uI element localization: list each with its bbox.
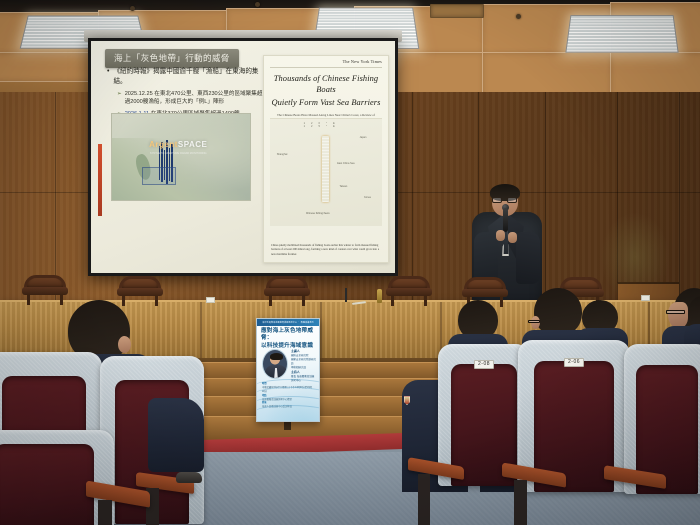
bullet-dot-icon: • bbox=[107, 67, 109, 86]
news-masthead: The New York Times bbox=[264, 56, 388, 64]
glasses-icon bbox=[528, 320, 540, 323]
armrest-post bbox=[514, 480, 527, 525]
speaker-hand-left bbox=[496, 230, 505, 241]
speaker-hand-right bbox=[508, 232, 517, 243]
slide-bullet: • 《紐約時報》揭露中國逾千艘「漁船」在東海的集結。 bbox=[107, 67, 267, 86]
map-watermark: ArgentSPACE bbox=[149, 140, 207, 149]
conference-hall-scene: 海上「灰色地帶」行動的威脅 • 《紐約時報》揭露中國逾千艘「漁船」在東海的集結。… bbox=[0, 0, 700, 525]
news-map-label: East China Sea bbox=[337, 162, 354, 165]
slide-sub-bullet-body: 2025.12.25 在東北470公里、東西230公里的區域聚集超過2000艘漁… bbox=[125, 90, 267, 107]
dais-chair bbox=[264, 276, 310, 306]
chair-leg bbox=[391, 295, 394, 306]
armrest-post bbox=[98, 500, 112, 525]
slide-bullet-text: 《紐約時報》揭露中國逾千艘「漁船」在東海的集結。 bbox=[113, 67, 267, 86]
glasses-icon bbox=[492, 197, 518, 203]
presentation-slide: 海上「灰色地帶」行動的威脅 • 《紐約時報》揭露中國逾千艘「漁船」在東海的集結。… bbox=[91, 41, 395, 273]
poster-host-label: 主持人 bbox=[291, 370, 300, 374]
news-map-label: Taiwan bbox=[339, 185, 347, 188]
seat-shell bbox=[0, 444, 94, 525]
poster-photo-hair bbox=[270, 353, 283, 360]
dais-chair bbox=[386, 276, 432, 306]
audience-face bbox=[668, 302, 688, 328]
slide-accent-bar bbox=[98, 144, 102, 216]
poster-title-line1: 應對海上灰色地帶威脅： bbox=[261, 328, 315, 343]
chair-leg bbox=[424, 295, 427, 306]
poster-banner: 海洋委員會海巡署教育訓練測考中心 ‧ 專題演講系列 bbox=[257, 319, 319, 326]
ceiling-sensor bbox=[130, 6, 135, 11]
dais-panel-seam bbox=[320, 302, 322, 364]
news-map-label: Korea bbox=[364, 196, 371, 199]
news-map-boat-chain bbox=[322, 136, 329, 202]
name-card bbox=[206, 297, 215, 303]
news-body-text: China quietly mobilized thousands of fis… bbox=[271, 243, 381, 257]
audience-member bbox=[148, 398, 204, 476]
ceiling-air-vent bbox=[430, 4, 484, 18]
ceiling-light-fixture bbox=[565, 15, 678, 53]
news-map-figure: 120°E 125°E East China Sea Shanghai Taiw… bbox=[270, 118, 382, 226]
name-card bbox=[641, 295, 650, 301]
map-watermark-subtitle: SYNTHETIC APERTURE RADAR MONITORING bbox=[150, 152, 207, 155]
poster-banner-text: 海洋委員會海巡署教育訓練測考中心 ‧ 專題演講系列 bbox=[262, 321, 313, 324]
dais-panel-seam bbox=[200, 302, 202, 364]
ceiling-sensor bbox=[255, 2, 260, 7]
slide-sub-date: 2025.12.25 bbox=[125, 91, 153, 97]
news-headline-line2: Quietly Form Vast Sea Barriers bbox=[264, 95, 388, 109]
event-poster: 海洋委員會海巡署教育訓練測考中心 ‧ 專題演講系列 應對海上灰色地帶威脅： 以科… bbox=[256, 318, 320, 422]
news-map-chain-label: Chinese fishing fleets bbox=[306, 212, 330, 215]
water-bottle[interactable] bbox=[377, 289, 382, 303]
chair-leg bbox=[302, 295, 305, 306]
poster-speaker-label: 主講人 bbox=[291, 349, 300, 353]
map-highlight-box bbox=[142, 167, 176, 185]
map-watermark-text: SPACE bbox=[178, 140, 207, 149]
glasses-icon bbox=[666, 310, 685, 314]
slide-satellite-map: ArgentSPACE SYNTHETIC APERTURE RADAR MON… bbox=[111, 113, 251, 201]
news-map-label: Japan bbox=[360, 136, 367, 139]
handheld-microphone bbox=[503, 208, 508, 232]
news-clipping: The New York Times Thousands of Chinese … bbox=[263, 55, 389, 263]
audience-leg bbox=[148, 398, 204, 472]
news-map-label: Shanghai bbox=[277, 153, 288, 156]
chair-leg bbox=[269, 295, 272, 306]
seat-number-plate: 2-08 bbox=[474, 360, 494, 369]
news-divider bbox=[270, 67, 382, 68]
shoe bbox=[176, 472, 202, 483]
news-map-axis-ticks: 120°E 125°E bbox=[304, 122, 382, 128]
poster-speaker-line: 國家安全研究所副研究員 bbox=[291, 358, 316, 366]
auditorium-seat[interactable] bbox=[0, 430, 114, 525]
poster-wave-graphic bbox=[257, 375, 319, 421]
map-watermark-prefix: Argent bbox=[149, 140, 178, 149]
chair-leg bbox=[27, 294, 30, 305]
seat-number-plate: 2-06 bbox=[564, 358, 584, 367]
slide-sub-bullet: ➢ 2025.12.25 在東北470公里、東西230公里的區域聚集超過2000… bbox=[117, 90, 267, 107]
poster-title: 應對海上灰色地帶威脅： 以科技提升海域意識 bbox=[261, 328, 315, 350]
audience-head bbox=[534, 288, 582, 336]
armrest-post bbox=[418, 474, 430, 525]
speaker-arm-right bbox=[516, 232, 540, 284]
slide-title: 海上「灰色地帶」行動的威脅 bbox=[105, 49, 239, 68]
projection-screen: 海上「灰色地帶」行動的威脅 • 《紐約時報》揭露中國逾千艘「漁船」在東海的集結。… bbox=[88, 38, 398, 276]
ceiling-sensor bbox=[516, 14, 521, 19]
chair-leg bbox=[155, 295, 158, 306]
news-headline-line1: Thousands of Chinese Fishing Boats bbox=[264, 71, 388, 95]
table-microphone[interactable] bbox=[345, 288, 347, 302]
arrow-bullet-icon: ➢ bbox=[117, 90, 122, 107]
audience-ear bbox=[118, 336, 131, 353]
